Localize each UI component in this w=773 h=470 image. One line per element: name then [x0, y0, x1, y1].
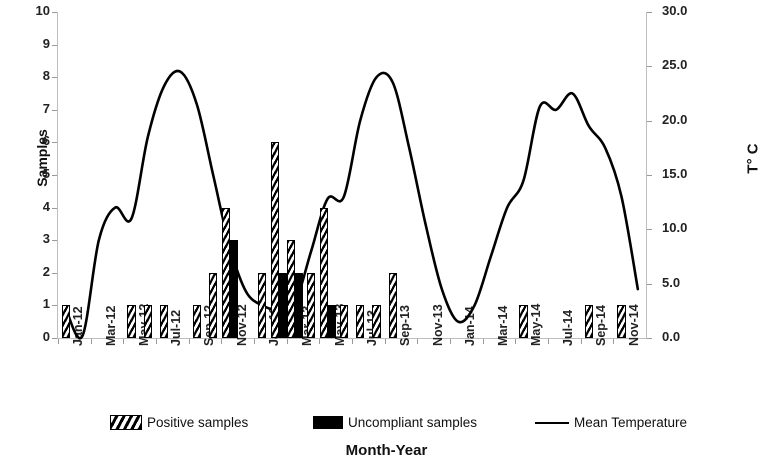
bar-positive-samples: [209, 273, 217, 338]
x-axis-tick-mark: [450, 339, 451, 344]
bar-positive-samples: [258, 273, 266, 338]
bar-positive-samples: [193, 305, 201, 338]
bar-positive-samples: [340, 305, 348, 338]
y-axis-right-tick-label: 0.0: [662, 329, 708, 344]
solid-swatch-icon: [313, 416, 343, 429]
y-axis-right-tick-label: 15.0: [662, 166, 708, 181]
y-axis-right-title: T° C: [745, 114, 762, 204]
bar-positive-samples: [144, 305, 152, 338]
x-axis-tick-mark: [156, 339, 157, 344]
y-axis-left-tick-label: 1: [16, 296, 50, 311]
bar-positive-samples: [271, 142, 279, 338]
x-axis-tick-mark: [319, 339, 320, 344]
legend-label-mean-temperature: Mean Temperature: [574, 415, 687, 430]
x-axis-tick-mark: [189, 339, 190, 344]
y-axis-left-tick-label: 7: [16, 101, 50, 116]
chart-legend: Positive samples Uncompliant samples Mea…: [110, 413, 710, 437]
x-axis-tick-mark: [123, 339, 124, 344]
line-swatch-icon: [535, 422, 569, 424]
y-axis-right-tick-mark: [647, 12, 652, 13]
y-axis-left-tick-label: 4: [16, 199, 50, 214]
mean-temperature-line: [58, 12, 646, 338]
legend-item-mean-temperature: Mean Temperature: [535, 415, 687, 430]
bar-positive-samples: [320, 208, 328, 338]
plot-area: [58, 12, 646, 338]
bar-positive-samples: [585, 305, 593, 338]
hatched-swatch-icon: [110, 415, 142, 430]
x-axis-title: Month-Year: [0, 442, 773, 459]
y-axis-left-tick-label: 8: [16, 68, 50, 83]
legend-item-positive-samples: Positive samples: [110, 415, 248, 430]
x-axis-tick-mark: [548, 339, 549, 344]
y-axis-left-tick-label: 10: [16, 3, 50, 18]
legend-item-uncompliant-samples: Uncompliant samples: [313, 415, 477, 430]
mean-temperature-path: [66, 71, 638, 338]
bar-uncompliant-samples: [295, 273, 303, 338]
x-axis-tick-mark: [417, 339, 418, 344]
y-axis-left-tick-label: 9: [16, 36, 50, 51]
y-axis-right-tick-mark: [647, 229, 652, 230]
bar-positive-samples: [372, 305, 380, 338]
y-axis-right-tick-mark: [647, 284, 652, 285]
y-axis-left-tick-label: 2: [16, 264, 50, 279]
x-axis-tick-mark: [287, 339, 288, 344]
y-axis-left-title: Samples: [34, 118, 50, 198]
x-axis-tick-mark: [581, 339, 582, 344]
chart-figure: Samples T° C 109876543210 30.025.020.015…: [0, 0, 773, 470]
y-axis-right-tick-mark: [647, 175, 652, 176]
y-axis-right-tick-label: 20.0: [662, 112, 708, 127]
bar-uncompliant-samples: [279, 273, 287, 338]
x-axis-tick-mark: [483, 339, 484, 344]
y-axis-right-tick-label: 25.0: [662, 57, 708, 72]
bar-positive-samples: [62, 305, 70, 338]
y-axis-right-tick-label: 30.0: [662, 3, 708, 18]
y-axis-left-tick-label: 6: [16, 133, 50, 148]
bar-uncompliant-samples: [328, 305, 336, 338]
legend-label-positive-samples: Positive samples: [147, 415, 248, 430]
y-axis-left-tick-label: 0: [16, 329, 50, 344]
y-axis-left-tick-label: 5: [16, 166, 50, 181]
bar-positive-samples: [519, 305, 527, 338]
y-axis-right-tick-mark: [647, 338, 652, 339]
y-axis-right-tick-mark: [647, 121, 652, 122]
bar-positive-samples: [160, 305, 168, 338]
x-axis-tick-mark: [91, 339, 92, 344]
y-axis-right-line: [646, 12, 647, 339]
y-axis-left-tick-label: 3: [16, 231, 50, 246]
y-axis-right-tick-mark: [647, 66, 652, 67]
x-axis-tick-mark: [352, 339, 353, 344]
bar-uncompliant-samples: [230, 240, 238, 338]
bar-positive-samples: [127, 305, 135, 338]
legend-label-uncompliant-samples: Uncompliant samples: [348, 415, 477, 430]
x-axis-tick-mark: [254, 339, 255, 344]
x-axis-tick-mark: [58, 339, 59, 344]
x-axis-tick-mark: [385, 339, 386, 344]
bar-positive-samples: [287, 240, 295, 338]
x-axis-tick-mark: [515, 339, 516, 344]
bar-positive-samples: [389, 273, 397, 338]
y-axis-right-tick-label: 5.0: [662, 275, 708, 290]
bar-positive-samples: [222, 208, 230, 338]
bar-positive-samples: [356, 305, 364, 338]
y-axis-right-tick-label: 10.0: [662, 220, 708, 235]
bar-positive-samples: [307, 273, 315, 338]
x-axis-tick-mark: [613, 339, 614, 344]
x-axis-tick-mark: [221, 339, 222, 344]
bar-positive-samples: [617, 305, 625, 338]
